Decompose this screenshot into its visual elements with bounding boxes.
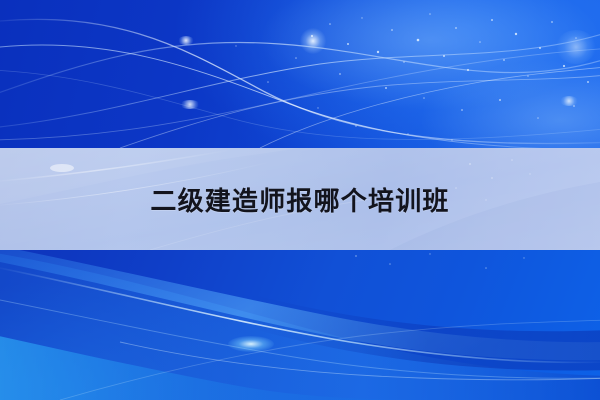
- promotional-banner: 二级建造师报哪个培训班: [0, 0, 600, 400]
- banner-top-background: [0, 0, 600, 148]
- top-light-curves-graphic: [0, 0, 600, 148]
- bottom-light-ribbons-graphic: [0, 250, 600, 400]
- title-band: 二级建造师报哪个培训班: [0, 148, 600, 250]
- page-title: 二级建造师报哪个培训班: [0, 148, 600, 250]
- banner-bottom-background: [0, 250, 600, 400]
